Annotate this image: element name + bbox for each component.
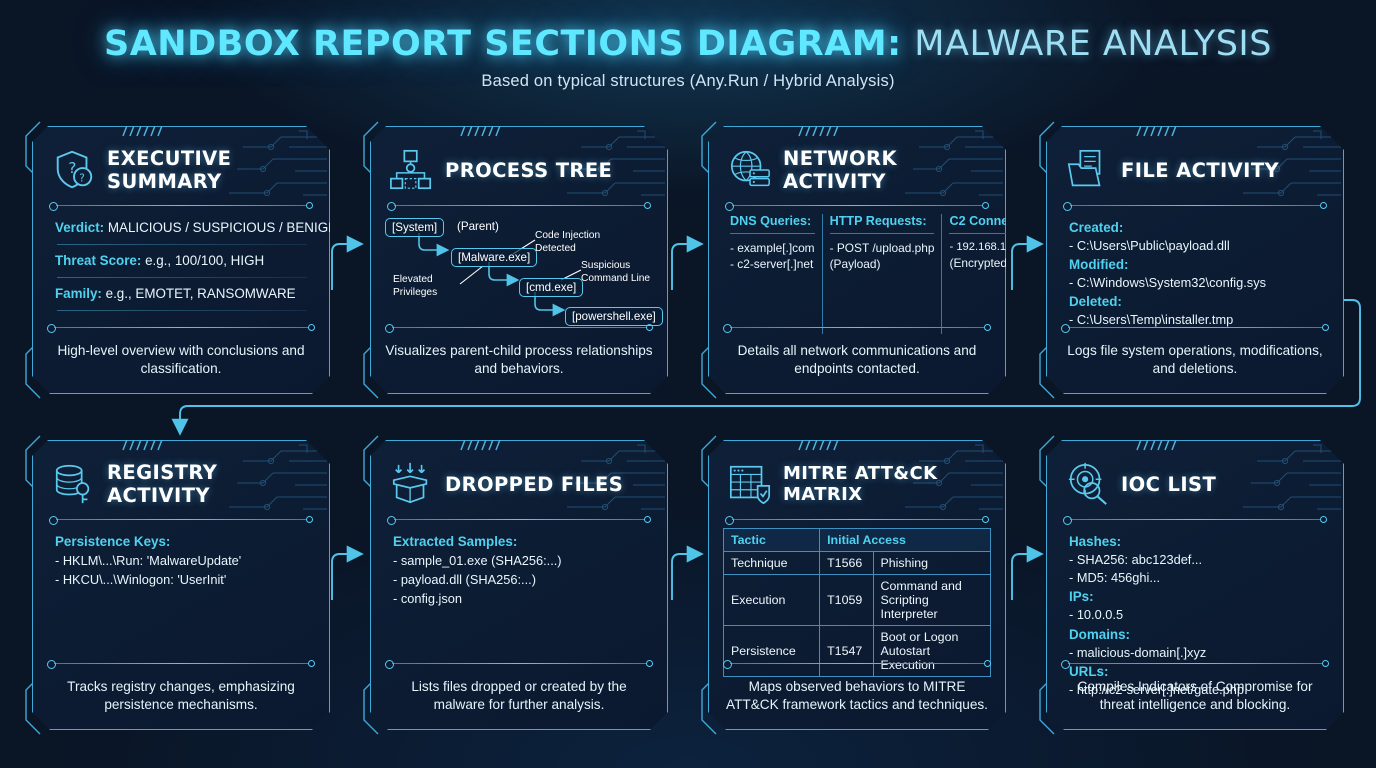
shield-question-icon: ? ? — [51, 147, 97, 193]
group-label: Hashes: — [1069, 532, 1323, 551]
header-divider — [49, 515, 313, 524]
network-column: C2 Connections: - 192.168.1.100:443 (Enc… — [941, 214, 1056, 334]
header-divider — [725, 515, 989, 524]
card-footer: Lists files dropped or created by the ma… — [385, 659, 653, 716]
group-item: - SHA256: abc123def... — [1069, 551, 1323, 569]
group-label: IPs: — [1069, 587, 1323, 606]
header-divider — [387, 515, 651, 524]
table-row: Execution T1059 Command and Scripting In… — [724, 575, 991, 626]
card-footer: High-level overview with conclusions and… — [47, 323, 315, 380]
card-body: Hashes: - SHA256: abc123def... - MD5: 45… — [1061, 524, 1329, 699]
database-key-icon — [51, 461, 97, 507]
svg-text:?: ? — [79, 173, 85, 185]
group-item: - C:\Users\Public\payload.dll — [1069, 237, 1323, 255]
group-label: Deleted: — [1069, 292, 1323, 311]
card-mitre-attack-matrix[interactable]: MITRE ATT&CK MATRIX Tactic Initial Acces… — [708, 440, 1006, 730]
network-columns: DNS Queries: - example[.]com - c2-server… — [723, 214, 991, 334]
group-item: - C:\Windows\System32\config.sys — [1069, 274, 1323, 292]
card-network-activity[interactable]: NETWORK ACTIVITY DNS Queries: - example[… — [708, 126, 1006, 394]
file-folder-icon — [1065, 147, 1111, 193]
matrix-shield-icon — [727, 461, 773, 507]
process-tree-icon — [389, 147, 435, 193]
header-divider — [725, 201, 989, 210]
header-divider — [1063, 201, 1327, 210]
card-dropped-files[interactable]: DROPPED FILES Extracted Samples: - sampl… — [370, 440, 668, 730]
page-subtitle: Based on typical structures (Any.Run / H… — [0, 72, 1376, 91]
group-item: - config.json — [393, 590, 647, 609]
group-item: - malicious-domain[.]xyz — [1069, 644, 1323, 662]
group-label: Persistence Keys: — [55, 532, 309, 552]
card-footer: Details all network communications and e… — [723, 323, 991, 380]
process-annotation: Suspicious Command Line — [581, 260, 659, 286]
process-node-suffix: (Parent) — [457, 220, 499, 233]
summary-row: Verdict: MALICIOUS / SUSPICIOUS / BENIGN — [55, 218, 309, 238]
group-item: - HKCU\...\Winlogon: 'UserInit' — [55, 571, 309, 590]
card-footer: Visualizes parent-child process relation… — [385, 323, 653, 380]
cards-grid: ? ? EXECUTIVE SUMMARY Verdict: MALICIOUS… — [32, 126, 1344, 730]
card-ioc-list[interactable]: IOC LIST Hashes: - SHA256: abc123def... … — [1046, 440, 1344, 730]
group-item: - http://c2-server[.]net/gate.php — [1069, 681, 1323, 699]
title-primary: SANDBOX REPORT SECTIONS DIAGRAM: — [104, 24, 902, 64]
group-item: - 10.0.0.5 — [1069, 606, 1323, 624]
card-file-activity[interactable]: FILE ACTIVITY Created: - C:\Users\Public… — [1046, 126, 1344, 394]
group-label: URLs: — [1069, 662, 1323, 681]
process-annotation: Elevated Privileges — [393, 274, 461, 300]
card-title: EXECUTIVE SUMMARY — [107, 147, 315, 193]
page-title: SANDBOX REPORT SECTIONS DIAGRAM: MALWARE… — [0, 26, 1376, 63]
card-registry-activity[interactable]: REGISTRY ACTIVITY Persistence Keys: - HK… — [32, 440, 330, 730]
card-body: Extracted Samples: - sample_01.exe (SHA2… — [385, 524, 653, 609]
card-body: Created: - C:\Users\Public\payload.dll M… — [1061, 210, 1329, 330]
process-tree-diagram: [System] (Parent) [Malware.exe] [cmd.exe… — [385, 214, 653, 334]
table-header-row: Tactic Initial Access — [724, 529, 991, 552]
header-divider — [387, 201, 651, 210]
process-node: [Malware.exe] — [451, 248, 537, 267]
title-secondary: MALWARE ANALYSIS — [914, 24, 1272, 64]
network-column: DNS Queries: - example[.]com - c2-server… — [723, 214, 822, 334]
card-body: Verdict: MALICIOUS / SUSPICIOUS / BENIGN… — [47, 210, 315, 311]
group-item: - payload.dll (SHA256:...) — [393, 571, 647, 590]
card-title: REGISTRY ACTIVITY — [107, 461, 315, 507]
open-box-download-icon — [389, 461, 435, 507]
group-label: Extracted Samples: — [393, 532, 647, 552]
header-divider — [1063, 515, 1327, 524]
summary-row: Threat Score: e.g., 100/100, HIGH — [55, 251, 309, 271]
card-footer: Logs file system operations, modificatio… — [1061, 323, 1329, 380]
group-label: Domains: — [1069, 625, 1323, 644]
process-node: [cmd.exe] — [519, 278, 583, 297]
card-title: PROCESS TREE — [445, 159, 612, 182]
summary-row: Family: e.g., EMOTET, RANSOMWARE — [55, 284, 309, 304]
card-executive-summary[interactable]: ? ? EXECUTIVE SUMMARY Verdict: MALICIOUS… — [32, 126, 330, 394]
group-label: Modified: — [1069, 255, 1323, 274]
card-footer: Maps observed behaviors to MITRE ATT&CK … — [723, 659, 991, 716]
group-item: - HKLM\...\Run: 'MalwareUpdate' — [55, 552, 309, 571]
group-item: - sample_01.exe (SHA256:...) — [393, 552, 647, 571]
card-body: Persistence Keys: - HKLM\...\Run: 'Malwa… — [47, 524, 315, 590]
card-title: DROPPED FILES — [445, 473, 623, 496]
card-title: NETWORK ACTIVITY — [783, 147, 991, 193]
card-title: IOC LIST — [1121, 473, 1216, 496]
card-process-tree[interactable]: PROCESS TREE — [370, 126, 668, 394]
column-header-tactic: Tactic — [724, 529, 820, 552]
group-item: - MD5: 456ghi... — [1069, 569, 1323, 587]
card-footer: Tracks registry changes, emphasizing per… — [47, 659, 315, 716]
globe-server-icon — [727, 147, 773, 193]
group-label: Created: — [1069, 218, 1323, 237]
target-magnifier-icon — [1065, 461, 1111, 507]
network-column: HTTP Requests: - POST /upload.php (Paylo… — [822, 214, 942, 334]
column-header-initial-access: Initial Access — [820, 529, 991, 552]
page-header: SANDBOX REPORT SECTIONS DIAGRAM: MALWARE… — [0, 26, 1376, 91]
process-node: [System] — [385, 218, 444, 237]
group-item: - C:\Users\Temp\installer.tmp — [1069, 311, 1323, 329]
mitre-table: Tactic Initial Access Technique T1566 Ph… — [723, 528, 991, 677]
header-divider — [49, 201, 313, 210]
card-title: FILE ACTIVITY — [1121, 159, 1279, 182]
card-title: MITRE ATT&CK MATRIX — [783, 463, 991, 505]
process-annotation: Code Injection Detected — [535, 230, 617, 256]
table-row: Technique T1566 Phishing — [724, 552, 991, 575]
